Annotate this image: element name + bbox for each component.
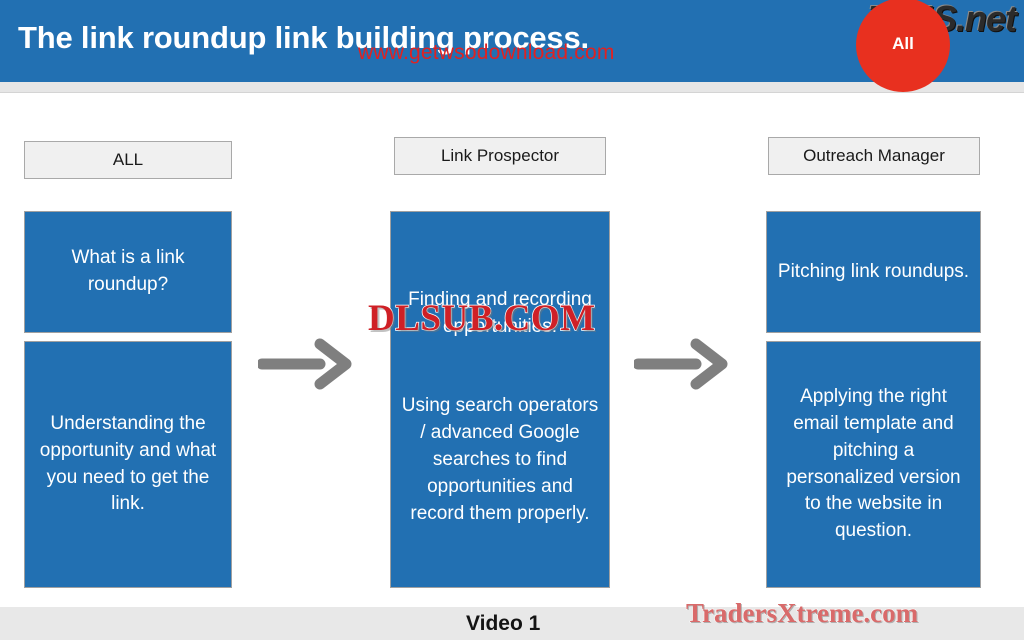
tc4s-badge-label: All (856, 34, 950, 54)
flow-box-applying-email-template: Applying the right email template and pi… (766, 341, 981, 588)
flow-box-understanding-the-opportunity: Understanding the opportunity and what y… (24, 341, 232, 588)
header-watermark-text: www.getwsodownload.com (358, 41, 615, 65)
flow-box-text: Using search operators / advanced Google… (401, 393, 599, 528)
right-arrow-icon (258, 338, 356, 390)
slide-header-bar: The link roundup link building process. … (0, 0, 1024, 82)
flow-box-text: Applying the right email template and pi… (777, 384, 970, 546)
header-divider (0, 82, 1024, 93)
column-header-label: Link Prospector (441, 146, 559, 166)
right-arrow-icon (634, 338, 732, 390)
column-header-link-prospector: Link Prospector (394, 137, 606, 175)
flow-box-text: Understanding the opportunity and what y… (35, 411, 221, 519)
column-header-label: ALL (113, 150, 143, 170)
video-number-label: Video 1 (466, 612, 540, 636)
flow-box-text: Pitching link roundups. (778, 259, 969, 286)
column-header-label: Outreach Manager (803, 146, 945, 166)
flow-box-what-is-a-link-roundup: What is a link roundup? (24, 211, 232, 333)
column-header-all: ALL (24, 141, 232, 179)
flow-box-link-prospector-tasks: Finding and recording opportunities. Usi… (390, 211, 610, 588)
flow-box-pitching-link-roundups: Pitching link roundups. (766, 211, 981, 333)
flow-box-text: What is a link roundup? (35, 245, 221, 299)
center-watermark-text: DLSUB.COM (368, 297, 596, 340)
column-header-outreach-manager: Outreach Manager (768, 137, 980, 175)
footer-watermark-text: TradersXtreme.com (686, 598, 918, 629)
